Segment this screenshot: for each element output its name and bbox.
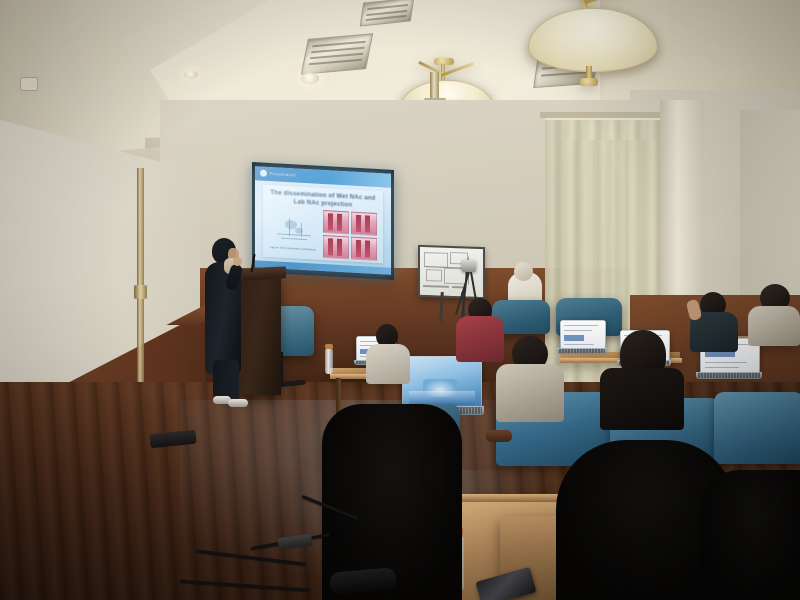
- air-vent-icon: [301, 33, 374, 74]
- photo-scene: Presentation The dissemination of Wet NA…: [0, 0, 800, 600]
- presenter-hand: [233, 257, 242, 266]
- audience-member: [600, 368, 684, 430]
- screen-glare: [255, 166, 391, 275]
- laptop[interactable]: [560, 320, 604, 356]
- chair-armrest: [486, 430, 512, 442]
- audience-member: [748, 306, 800, 346]
- audience-member: [366, 344, 410, 384]
- audience-member: [456, 316, 504, 362]
- video-camera: [462, 260, 476, 272]
- water-bottle: [325, 348, 333, 374]
- recessed-downlight: [301, 73, 319, 84]
- chandelier-right: [520, 0, 660, 92]
- power-outlet[interactable]: [20, 77, 38, 91]
- audience-head: [514, 262, 533, 281]
- presenter-legs: [213, 360, 239, 400]
- pipe-joint: [134, 285, 147, 299]
- foreground-silhouette: [700, 470, 800, 600]
- bottle-cap: [325, 344, 333, 349]
- audience-member: [496, 364, 564, 422]
- chair[interactable]: [714, 392, 800, 464]
- recessed-downlight: [184, 70, 198, 79]
- presenter-shoe: [228, 399, 248, 407]
